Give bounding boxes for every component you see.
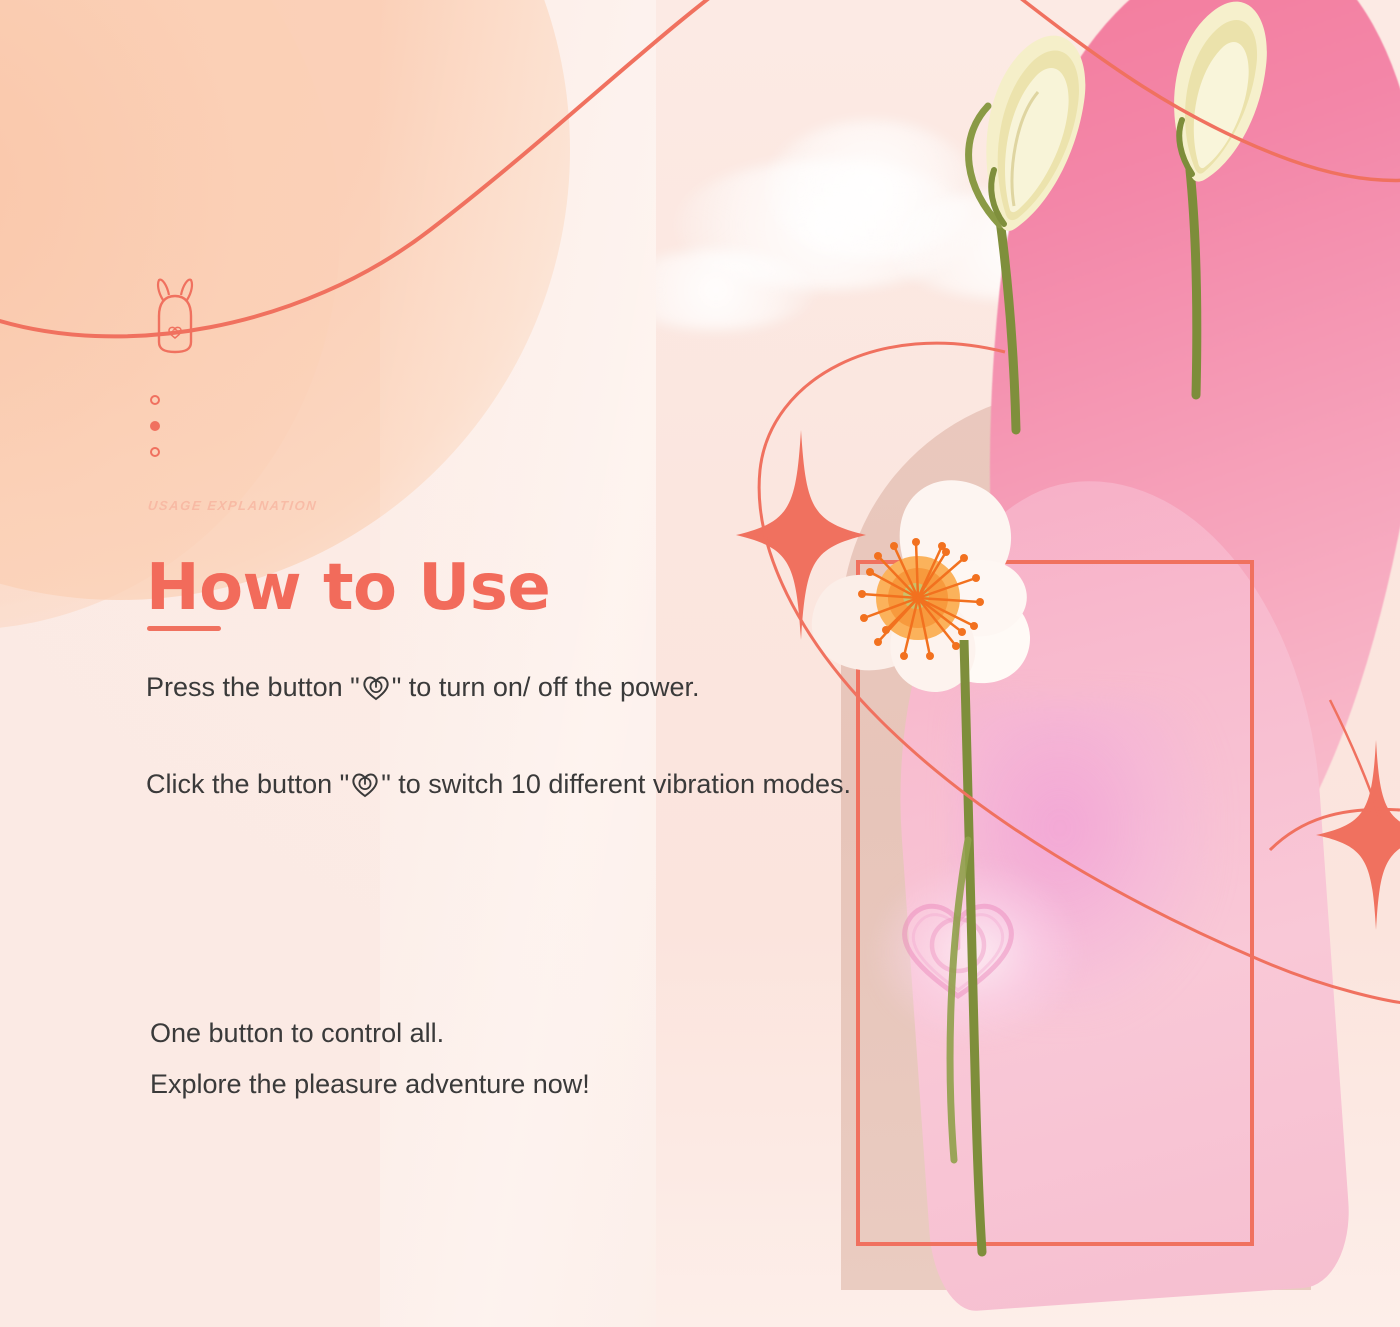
- how-to-use-banner: USAGE EXPLANATION How to Use Press the b…: [0, 0, 1400, 1327]
- dot-indicator[interactable]: [150, 395, 160, 405]
- dot-indicator-active[interactable]: [150, 421, 160, 431]
- instruction-text-after: " to turn on/ off the power.: [392, 674, 700, 701]
- instruction-text-before: Press the button ": [146, 674, 360, 701]
- three-dots-indicator: [150, 395, 160, 473]
- instruction-list: Press the button " " to turn on/ off the…: [146, 672, 976, 799]
- tagline-block: One button to control all. Explore the p…: [150, 1020, 590, 1098]
- instruction-text-after: " to switch 10 different vibration modes…: [381, 771, 851, 798]
- instruction-item-power: Press the button " " to turn on/ off the…: [146, 672, 976, 702]
- title-divider: [147, 626, 221, 631]
- rabbit-vibrator-icon: [146, 278, 204, 354]
- tagline-line-2: Explore the pleasure adventure now!: [150, 1071, 590, 1098]
- content-column: USAGE EXPLANATION How to Use Press the b…: [146, 0, 926, 1327]
- heart-power-button-icon: [350, 769, 380, 799]
- tagline-line-1: One button to control all.: [150, 1020, 590, 1047]
- dot-indicator[interactable]: [150, 447, 160, 457]
- sparkle-star-icon: [1316, 740, 1400, 930]
- cream-lisianthus-bud-icon: [1056, 0, 1306, 400]
- instruction-item-modes: Click the button " " to switch 10 differ…: [146, 769, 976, 799]
- section-eyebrow: USAGE EXPLANATION: [147, 498, 318, 513]
- heart-power-button-icon: [361, 672, 391, 702]
- page-title: How to Use: [146, 553, 550, 623]
- instruction-text-before: Click the button ": [146, 771, 349, 798]
